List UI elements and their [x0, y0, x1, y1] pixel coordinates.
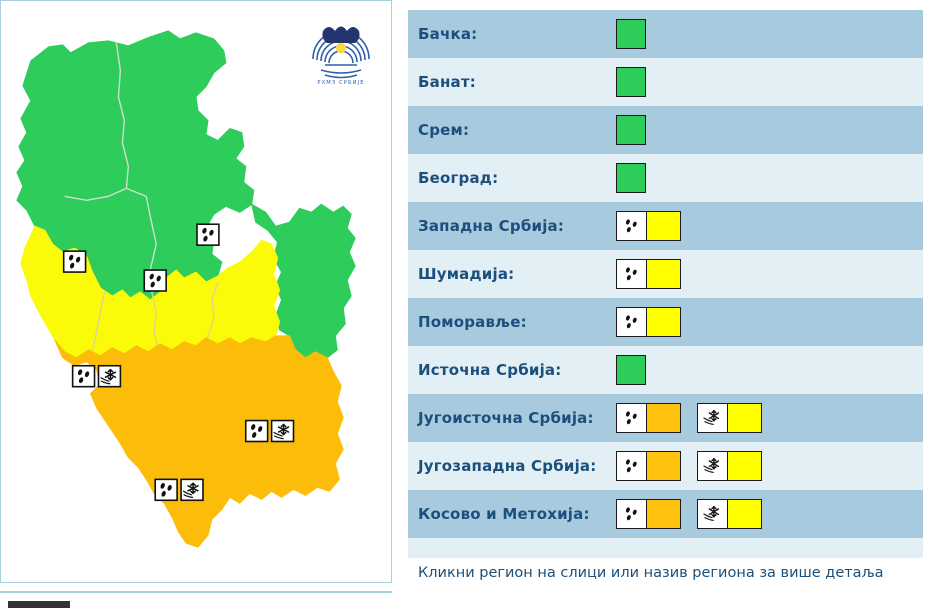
region-label[interactable]: Поморавље:: [418, 313, 616, 331]
region-row-istocna-srbija[interactable]: Источна Србија:: [408, 346, 923, 394]
warning-badge: [616, 259, 681, 289]
map-marker-snow-jugoistocna: [272, 421, 294, 442]
region-row-jugoistocna-srbija[interactable]: Југоисточна Србија:: [408, 394, 923, 442]
warning-badge: [616, 211, 681, 241]
rain-icon: [617, 452, 647, 480]
warning-color-swatch: [617, 20, 645, 48]
logo-caption: РХМЗ СРБИЈЕ: [317, 80, 364, 86]
warning-color-swatch: [647, 260, 680, 288]
region-label[interactable]: Срем:: [418, 121, 616, 139]
region-label[interactable]: Западна Србија:: [418, 217, 616, 235]
region-badges: [616, 307, 681, 337]
region-label[interactable]: Југозападна Србија:: [418, 457, 616, 475]
warning-color-swatch: [728, 452, 761, 480]
warning-color-swatch: [617, 164, 645, 192]
region-badges: [616, 403, 762, 433]
warning-badge: [616, 19, 646, 49]
region-badges: [616, 259, 681, 289]
map-marker-rain-zapadna: [64, 251, 86, 272]
footer-hint: Кликни регион на слици или назив региона…: [418, 565, 918, 581]
bottom-left-stub: [8, 601, 70, 608]
region-label[interactable]: Бачка:: [418, 25, 616, 43]
map-marker-rain-kosovo: [155, 479, 177, 500]
snow-icon: [698, 500, 728, 528]
map-svg: [1, 1, 391, 582]
region-row-beograd[interactable]: Београд:: [408, 154, 923, 202]
map-marker-rain-pomoravlje: [197, 224, 219, 245]
rain-icon: [617, 404, 647, 432]
map-marker-snow-kosovo: [181, 479, 203, 500]
region-list-panel: Бачка: Банат: Срем:: [408, 10, 923, 595]
warning-badge-snow: [697, 451, 762, 481]
warning-color-swatch: [728, 500, 761, 528]
warning-color-swatch: [647, 308, 680, 336]
weather-warning-page: РХМЗ СРБИЈЕ Бачка: Банат:: [0, 0, 940, 612]
map-marker-snow-jugozapadna: [99, 366, 121, 387]
map-marker-rain-jugoistocna: [246, 421, 268, 442]
region-row-kosovo-i-metohija[interactable]: Косово и Метохија:: [408, 490, 923, 538]
snow-icon: [698, 404, 728, 432]
region-label[interactable]: Београд:: [418, 169, 616, 187]
warning-color-swatch: [617, 116, 645, 144]
warning-color-swatch: [647, 404, 680, 432]
warning-badge: [616, 115, 646, 145]
region-label[interactable]: Југоисточна Србија:: [418, 409, 616, 427]
region-label[interactable]: Банат:: [418, 73, 616, 91]
warning-badge-snow: [697, 403, 762, 433]
region-row-zapadna-srbija[interactable]: Западна Србија:: [408, 202, 923, 250]
warning-color-swatch: [647, 212, 680, 240]
warning-color-swatch: [647, 452, 680, 480]
warning-badge-rain: [616, 499, 681, 529]
snow-icon: [698, 452, 728, 480]
region-row-jugozapadna-srbija[interactable]: Југозападна Србија:: [408, 442, 923, 490]
warning-color-swatch: [647, 500, 680, 528]
region-badges: [616, 19, 646, 49]
region-row-backa[interactable]: Бачка:: [408, 10, 923, 58]
warning-color-swatch: [617, 68, 645, 96]
region-row-srem[interactable]: Срем:: [408, 106, 923, 154]
region-row-banat[interactable]: Банат:: [408, 58, 923, 106]
region-label[interactable]: Источна Србија:: [418, 361, 616, 379]
rain-icon: [617, 500, 647, 528]
region-badges: [616, 499, 762, 529]
region-row-pomoravlje[interactable]: Поморавље:: [408, 298, 923, 346]
warning-badge-rain: [616, 403, 681, 433]
region-list-trailing-strip: [408, 538, 923, 558]
rain-icon: [617, 260, 647, 288]
warning-color-swatch: [617, 356, 645, 384]
warning-badge: [616, 355, 646, 385]
region-badges: [616, 211, 681, 241]
warning-color-swatch: [728, 404, 761, 432]
warning-badge: [616, 307, 681, 337]
region-label[interactable]: Шумадија:: [418, 265, 616, 283]
region-badges: [616, 163, 646, 193]
rhmz-logo: РХМЗ СРБИЈЕ: [309, 15, 373, 87]
warning-badge: [616, 67, 646, 97]
region-badges: [616, 451, 762, 481]
map-marker-rain-jugozapadna: [73, 366, 95, 387]
region-badges: [616, 115, 646, 145]
map-marker-rain-sumadija: [144, 270, 166, 291]
region-label[interactable]: Косово и Метохија:: [418, 505, 616, 523]
rain-icon: [617, 308, 647, 336]
region-badges: [616, 355, 646, 385]
warning-badge-rain: [616, 451, 681, 481]
warning-badge-snow: [697, 499, 762, 529]
rain-icon: [617, 212, 647, 240]
rhmz-logo-icon: РХМЗ СРБИЈЕ: [309, 15, 373, 87]
serbia-warning-map[interactable]: [1, 1, 391, 582]
map-bottom-rule: [0, 591, 392, 593]
warning-badge: [616, 163, 646, 193]
region-badges: [616, 67, 646, 97]
region-row-sumadija[interactable]: Шумадија:: [408, 250, 923, 298]
map-panel: РХМЗ СРБИЈЕ: [0, 0, 392, 583]
